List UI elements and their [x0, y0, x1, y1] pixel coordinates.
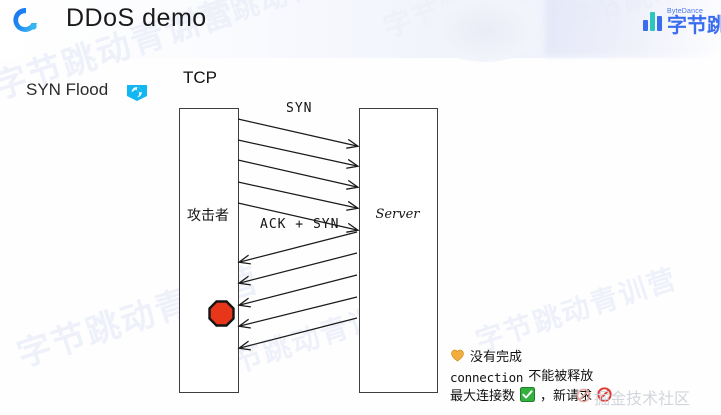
syn-arrows: [238, 119, 357, 230]
slide-canvas: 字节跳动青训营 字节跳动青训营 字节跳动青训营 字节跳动青训营 字节跳动青训营 …: [0, 0, 721, 415]
explanation-note: 没有完成 connection 不能被释放 最大连接数 ，新请求: [450, 348, 721, 408]
note-connection-keyword: connection: [450, 369, 523, 387]
note-text-2: 不能被释放: [528, 368, 593, 386]
orange-heart-icon: [450, 348, 465, 368]
note-line-3: 最大连接数 ，新请求: [450, 387, 721, 408]
green-check-icon: [520, 387, 535, 408]
ack-syn-arrows: [240, 232, 357, 348]
prohibited-icon: [597, 387, 612, 408]
note-text-1: 没有完成: [470, 349, 522, 367]
note-line-2: connection 不能被释放: [450, 368, 721, 386]
note-text-3b: ，新请求: [540, 388, 592, 406]
note-line-1: 没有完成: [450, 348, 721, 368]
note-text-3a: 最大连接数: [450, 388, 515, 406]
